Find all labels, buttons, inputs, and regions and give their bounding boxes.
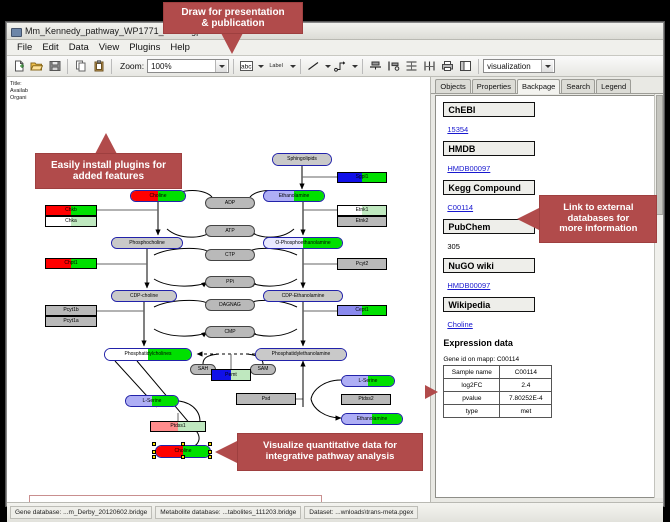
zoom-value: 100% xyxy=(151,62,171,71)
expression-key: Sample name xyxy=(444,366,500,379)
selection-handle[interactable] xyxy=(208,455,212,459)
menu-data[interactable]: Data xyxy=(64,42,94,53)
tab-search[interactable]: Search xyxy=(561,79,595,93)
selection-handle[interactable] xyxy=(152,450,156,454)
new-file-icon[interactable] xyxy=(10,58,27,75)
toolbar: Zoom: 100% abc Label xyxy=(7,56,663,77)
label-tool[interactable]: Label xyxy=(265,58,287,75)
node-label: CDP-choline xyxy=(130,294,158,299)
tab-objects[interactable]: Objects xyxy=(435,79,470,93)
menu-help[interactable]: Help xyxy=(165,42,195,53)
cofactor-sam[interactable]: SAM xyxy=(250,364,276,375)
text-tool-icon[interactable]: abc xyxy=(238,58,255,75)
metabolite-l-serine-right[interactable]: L-Serine xyxy=(341,375,395,387)
gene-etnk2[interactable]: Etnk2 xyxy=(337,216,387,227)
chevron-down-icon-2[interactable] xyxy=(541,60,553,72)
visualization-combobox[interactable]: visualization xyxy=(483,59,555,73)
zoom-label: Zoom: xyxy=(120,61,144,71)
node-label: L-Serine xyxy=(143,399,162,404)
expression-table: Sample nameC00114log2FC2.4pvalue7.80252E… xyxy=(443,365,552,418)
expression-row: Sample nameC00114 xyxy=(444,366,552,379)
node-label: Ptdss2 xyxy=(358,397,373,402)
db-header-kegg-compound: Kegg Compound xyxy=(443,180,535,195)
gene-id-line: Gene id on mapp: C00114 xyxy=(443,356,654,363)
metabolite-cdp-ethanolamine[interactable]: CDP-Ethanolamine xyxy=(263,290,343,302)
node-label: Etnk2 xyxy=(356,219,369,224)
gene-psd[interactable]: Psd xyxy=(236,393,296,405)
tab-backpage[interactable]: Backpage xyxy=(517,79,560,94)
app-icon xyxy=(11,26,21,36)
expression-key: pvalue xyxy=(444,392,500,405)
align-left-icon[interactable] xyxy=(385,58,402,75)
db-header-hmdb: HMDB xyxy=(443,141,535,156)
expression-value: 2.4 xyxy=(500,379,552,392)
db-header-nugo-wiki: NuGO wiki xyxy=(443,258,535,273)
node-label: Cept1 xyxy=(355,308,368,313)
selection-handle[interactable] xyxy=(181,455,185,459)
callout-plugins: Easily install plugins for added feature… xyxy=(35,153,182,189)
node-label: Etnk1 xyxy=(356,208,369,213)
node-label: Chka xyxy=(65,219,77,224)
label-tool-chevron-icon[interactable] xyxy=(290,65,296,68)
copy-icon[interactable] xyxy=(72,58,89,75)
callout-draw-text: Draw for presentation & publication xyxy=(181,7,284,30)
align-top-icon[interactable] xyxy=(367,58,384,75)
gene-chpt1[interactable]: Chpt1 xyxy=(45,258,97,269)
line-tool-icon[interactable] xyxy=(305,58,322,75)
node-label: Phosphocholine xyxy=(129,241,165,246)
callout-plugins-text: Easily install plugins for added feature… xyxy=(51,160,166,183)
line-tool-chevron-icon[interactable] xyxy=(325,65,331,68)
node-label: Sphingolipids xyxy=(287,157,317,162)
gene-ptdss1[interactable]: Ptdss1 xyxy=(150,421,206,432)
gene-etnk1[interactable]: Etnk1 xyxy=(337,205,387,216)
expression-row: log2FC2.4 xyxy=(444,379,552,392)
status-bar: Gene database: ...m_Derby_20120602.bridg… xyxy=(7,502,663,522)
node-label: O-Phosphoethanolamine xyxy=(275,241,330,246)
gene-pcyt2[interactable]: Pcyt2 xyxy=(337,258,387,270)
selection-handle[interactable] xyxy=(208,442,212,446)
save-file-icon[interactable] xyxy=(46,58,63,75)
selection-handle[interactable] xyxy=(152,455,156,459)
connector-tool-icon[interactable] xyxy=(332,58,349,75)
metabolite-phosphocholine[interactable]: Phosphocholine xyxy=(111,237,183,249)
node-label: Pcyt1b xyxy=(63,308,78,313)
expression-row: pvalue7.80252E-4 xyxy=(444,392,552,405)
node-label: CTP xyxy=(225,253,235,258)
backpage-scrollbar[interactable] xyxy=(654,94,663,498)
cofactor-dagnag[interactable]: DAGNAG xyxy=(205,299,255,311)
expression-key: log2FC xyxy=(444,379,500,392)
menu-plugins[interactable]: Plugins xyxy=(124,42,165,53)
node-label: PPi xyxy=(226,280,234,285)
node-label: ATP xyxy=(225,229,234,234)
status-gene-database: Gene database: ...m_Derby_20120602.bridg… xyxy=(10,506,152,519)
menu-bar: File Edit Data View Plugins Help xyxy=(7,40,663,56)
tab-legend[interactable]: Legend xyxy=(596,79,631,93)
callout-visualize-text: Visualize quantitative data for integrat… xyxy=(263,441,397,463)
selection-handle[interactable] xyxy=(152,442,156,446)
expression-key: type xyxy=(444,405,500,418)
node-label: Phosphatidylethanolamine xyxy=(272,352,331,357)
connector-tool-chevron-icon[interactable] xyxy=(352,65,358,68)
db-header-chebi: ChEBI xyxy=(443,102,535,117)
gene-pcyt1b[interactable]: Pcyt1b xyxy=(45,305,97,316)
expression-value: met xyxy=(500,405,552,418)
node-label: Ethanolamine xyxy=(279,194,310,199)
callout-draw: Draw for presentation & publication xyxy=(163,2,303,34)
node-label: Choline xyxy=(175,449,192,454)
fill-right xyxy=(266,394,295,404)
toolbar-separator-3 xyxy=(233,59,234,74)
properties-panel-icon[interactable] xyxy=(457,58,474,75)
node-label: Ethanolamine xyxy=(357,417,388,422)
menu-file[interactable]: File xyxy=(12,42,37,53)
callout-link-text: Link to external databases for more info… xyxy=(559,203,637,236)
gene-sgpl1[interactable]: Sgpl1 xyxy=(337,172,387,183)
print-icon[interactable] xyxy=(439,58,456,75)
pathvisio-window: Mm_Kennedy_pathway_WP1771_45176.gpml Fil… xyxy=(6,22,664,506)
metabolite-cdp-choline[interactable]: CDP-choline xyxy=(111,290,177,302)
expression-value: C00114 xyxy=(500,366,552,379)
share-banner: Share on Wikipathways.org xyxy=(29,495,322,502)
toolbar-separator-2 xyxy=(111,59,112,74)
toolbar-separator-6 xyxy=(478,59,479,74)
node-label: Ptdss1 xyxy=(170,424,185,429)
metabolite-sphingolipids[interactable]: Sphingolipids xyxy=(272,153,332,166)
label-tool-label: Label xyxy=(269,63,282,69)
node-label: Psd xyxy=(262,397,271,402)
status-metabolite-database: Metabolite database: ...tabolites_111203… xyxy=(155,506,301,519)
node-label: Pcyt2 xyxy=(356,262,369,267)
expression-value: 7.80252E-4 xyxy=(500,392,552,405)
gene-cept1[interactable]: Cept1 xyxy=(337,305,387,316)
callout-visualize-arrow-icon xyxy=(215,441,237,463)
expression-row: typemet xyxy=(444,405,552,418)
pathway-canvas[interactable]: Title: Availab Organi xyxy=(7,77,431,502)
cofactor-adp[interactable]: ADP xyxy=(205,197,255,209)
db-value-wikipedia[interactable]: Choline xyxy=(447,320,472,329)
callout-draw-arrow-icon xyxy=(221,33,243,54)
metabolite-o-phosphoethanolamine[interactable]: O-Phosphoethanolamine xyxy=(263,237,343,249)
gene-ptdss2[interactable]: Ptdss2 xyxy=(341,394,391,405)
text-tool-chevron-icon[interactable] xyxy=(258,65,264,68)
selection-handle[interactable] xyxy=(181,442,185,446)
expression-data-heading: Expression data xyxy=(443,338,654,348)
node-label: DAGNAG xyxy=(219,303,241,308)
node-label: Chpt1 xyxy=(64,261,77,266)
gene-chkb[interactable]: Chkb xyxy=(45,205,97,216)
distribute-vertical-icon[interactable] xyxy=(403,58,420,75)
db-value-nugo-wiki[interactable]: HMDB00097 xyxy=(447,281,490,290)
metabolite-ethanolamine-top[interactable]: Ethanolamine xyxy=(263,190,325,202)
visualization-value: visualization xyxy=(487,62,531,71)
toolbar-separator-5 xyxy=(362,59,363,74)
db-value-hmdb[interactable]: HMDB00097 xyxy=(447,164,490,173)
side-panel: Objects Properties Backpage Search Legen… xyxy=(431,77,663,502)
node-label: Phosphatidylcholines xyxy=(125,352,172,357)
status-dataset: Dataset: ...wnloads\trans-meta.pgex xyxy=(304,506,418,519)
metabolite-choline-top[interactable]: Choline xyxy=(130,190,186,202)
callout-link-arrow-icon xyxy=(517,208,539,230)
db-header-wikipedia: Wikipedia xyxy=(443,297,535,312)
metabolite-phosphatidylethanolamine[interactable]: Phosphatidylethanolamine xyxy=(255,348,347,361)
main-area: Title: Availab Organi xyxy=(7,77,663,502)
node-label: L-Serine xyxy=(359,379,378,384)
node-label: Pcyt1a xyxy=(63,319,78,324)
node-label: Choline xyxy=(150,194,167,199)
zoom-combobox[interactable]: 100% xyxy=(147,59,229,73)
selection-handle[interactable] xyxy=(208,450,212,454)
node-label: CDP-Ethanolamine xyxy=(282,294,325,299)
callout-plugins-arrow-icon xyxy=(95,133,117,154)
node-label: SAH xyxy=(198,367,208,372)
node-label: ADP xyxy=(225,201,235,206)
metabolite-ethanolamine-right[interactable]: Ethanolamine xyxy=(341,413,403,425)
node-label: CMP xyxy=(224,330,235,335)
side-tabstrip: Objects Properties Backpage Search Legen… xyxy=(431,77,663,94)
menu-edit[interactable]: Edit xyxy=(37,42,63,53)
callout-visualize: Visualize quantitative data for integrat… xyxy=(237,433,423,471)
callout-expression-arrow-icon xyxy=(425,385,438,399)
cofactor-atp[interactable]: ATP xyxy=(205,225,255,237)
title-bar: Mm_Kennedy_pathway_WP1771_45176.gpml xyxy=(7,23,663,40)
node-label: Pemt xyxy=(225,373,237,378)
open-file-icon[interactable] xyxy=(28,58,45,75)
tab-properties[interactable]: Properties xyxy=(472,79,516,93)
svg-text:abc: abc xyxy=(241,64,252,71)
metabolite-phosphatidylcholines[interactable]: Phosphatidylcholines xyxy=(104,348,192,361)
menu-view[interactable]: View xyxy=(94,42,124,53)
chevron-down-icon[interactable] xyxy=(215,60,227,72)
distribute-horizontal-icon[interactable] xyxy=(421,58,438,75)
metabolite-l-serine-left[interactable]: L-Serine xyxy=(125,395,179,407)
paste-icon[interactable] xyxy=(90,58,107,75)
node-label: SAM xyxy=(258,367,269,372)
toolbar-separator-4 xyxy=(300,59,301,74)
cofactor-ctp[interactable]: CTP xyxy=(205,249,255,261)
callout-link: Link to external databases for more info… xyxy=(539,195,657,243)
gene-pemt[interactable]: Pemt xyxy=(211,369,251,381)
db-value-pubchem: 305 xyxy=(447,242,460,251)
gene-chka[interactable]: Chka xyxy=(45,216,97,227)
cofactor-cmp[interactable]: CMP xyxy=(205,326,255,338)
db-value-chebi[interactable]: 15354 xyxy=(447,125,468,134)
cofactor-ppi[interactable]: PPi xyxy=(205,276,255,288)
backpage-content: ChEBI15354HMDBHMDB00097Kegg CompoundC001… xyxy=(435,95,655,498)
node-label: Chkb xyxy=(65,208,77,213)
db-value-kegg-compound[interactable]: C00114 xyxy=(447,203,473,212)
toolbar-separator-1 xyxy=(67,59,68,74)
gene-pcyt1a[interactable]: Pcyt1a xyxy=(45,316,97,327)
node-label: Sgpl1 xyxy=(356,175,369,180)
